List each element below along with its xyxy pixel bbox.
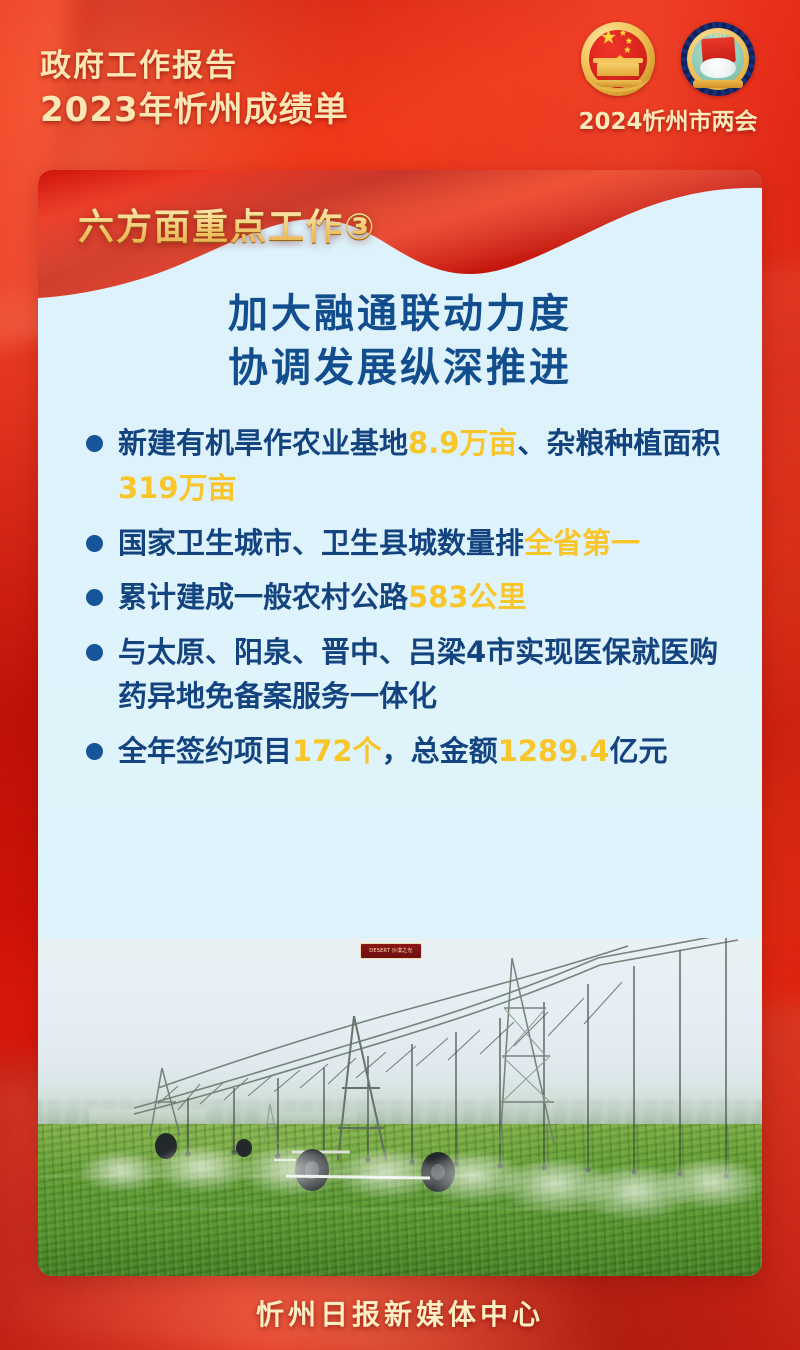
poster-footer: 忻州日报新媒体中心: [0, 1276, 800, 1350]
bullet-item: 全年签约项目172个，总金额1289.4亿元: [82, 729, 728, 774]
cppcc-banner-icon: [693, 80, 743, 88]
bullet-text: ，总金额: [382, 734, 498, 768]
bullet-dot-icon: [86, 743, 103, 760]
footer-credit: 忻州日报新媒体中心: [256, 1293, 544, 1333]
bullet-dot-icon: [86, 435, 103, 452]
bullet-list: 新建有机旱作农业基地8.9万亩、杂粮种植面积319万亩国家卫生城市、卫生县城数量…: [38, 421, 762, 774]
water-spray: [335, 1151, 436, 1198]
poster-title-line1: 政府工作报告: [40, 48, 349, 86]
emblem-group: ★ ★ ★ ★ ★ 1949: [564, 22, 772, 136]
bullet-item: 国家卫生城市、卫生县城数量排全省第一: [82, 521, 728, 566]
bullet-item: 新建有机旱作农业基地8.9万亩、杂粮种植面积319万亩: [82, 421, 728, 510]
star-icon: ★: [619, 30, 626, 37]
poster-title: 政府工作报告 2023年忻州成绩单: [40, 48, 349, 131]
bullet-highlight-text: 319万亩: [118, 471, 237, 505]
bullet-text: 与太原、阳泉、晋中、吕梁4市实现医保就医购药异地免备案服务一体化: [118, 635, 718, 714]
bullet-highlight-text: 全省第一: [524, 526, 640, 560]
water-spray: [154, 1148, 248, 1192]
cppcc-globe-icon: [700, 58, 736, 79]
machine-brand-text: DESERT 沙漠之光: [369, 947, 412, 954]
center-pivot-irrigator: [38, 938, 762, 1276]
bullet-dot-icon: [86, 644, 103, 661]
poster-root: 政府工作报告 2023年忻州成绩单 ★ ★ ★ ★ ★: [0, 0, 800, 1350]
section-title: 六方面重点工作③: [78, 198, 376, 250]
bullet-text: 全年签约项目: [118, 734, 292, 768]
star-icon: ★: [601, 31, 616, 46]
card-headline: 加大融通联动力度 协调发展纵深推进: [38, 288, 762, 395]
national-emblem-stars: ★ ★ ★ ★ ★: [581, 31, 655, 61]
cppcc-emblem-icon: 1949: [681, 22, 755, 96]
bullet-highlight-text: 172个: [292, 734, 382, 768]
poster-header: 政府工作报告 2023年忻州成绩单 ★ ★ ★ ★ ★: [0, 0, 800, 172]
national-emblem-icon: ★ ★ ★ ★ ★: [581, 22, 655, 96]
bullet-highlight-text: 8.9万亩: [408, 426, 517, 460]
bullet-dot-icon: [86, 589, 103, 606]
bullet-text: 、杂粮种植面积: [517, 426, 720, 460]
bullet-item: 与太原、阳泉、晋中、吕梁4市实现医保就医购药异地免备案服务一体化: [82, 630, 728, 719]
bullet-item: 累计建成一般农村公路583公里: [82, 575, 728, 620]
star-icon: ★: [625, 38, 632, 45]
bullet-highlight-text: 1289.4: [498, 734, 610, 768]
wheat-ears-icon: [584, 72, 652, 92]
machine-brand-plate: DESERT 沙漠之光: [360, 943, 422, 959]
bullet-text: 亿元: [610, 734, 668, 768]
poster-title-line2: 2023年忻州成绩单: [40, 90, 349, 131]
bullet-dot-icon: [86, 535, 103, 552]
bullet-highlight-text: 583公里: [408, 580, 527, 614]
water-spray: [661, 1161, 762, 1208]
water-spray: [241, 1148, 342, 1195]
bullet-text: 国家卫生城市、卫生县城数量排: [118, 526, 524, 560]
card-headline-line2: 协调发展纵深推进: [78, 342, 722, 396]
card-headline-line1: 加大融通联动力度: [78, 288, 722, 342]
emblem-row: ★ ★ ★ ★ ★ 1949: [564, 22, 772, 96]
star-icon: ★: [624, 47, 631, 54]
card-body: 加大融通联动力度 协调发展纵深推进 新建有机旱作农业基地8.9万亩、杂粮种植面积…: [38, 288, 762, 784]
field-irrigation-photo: DESERT 沙漠之光: [38, 938, 762, 1276]
bullet-text: 累计建成一般农村公路: [118, 580, 408, 614]
bullet-text: 新建有机旱作农业基地: [118, 426, 408, 460]
emblem-caption: 2024忻州市两会: [564, 102, 772, 136]
